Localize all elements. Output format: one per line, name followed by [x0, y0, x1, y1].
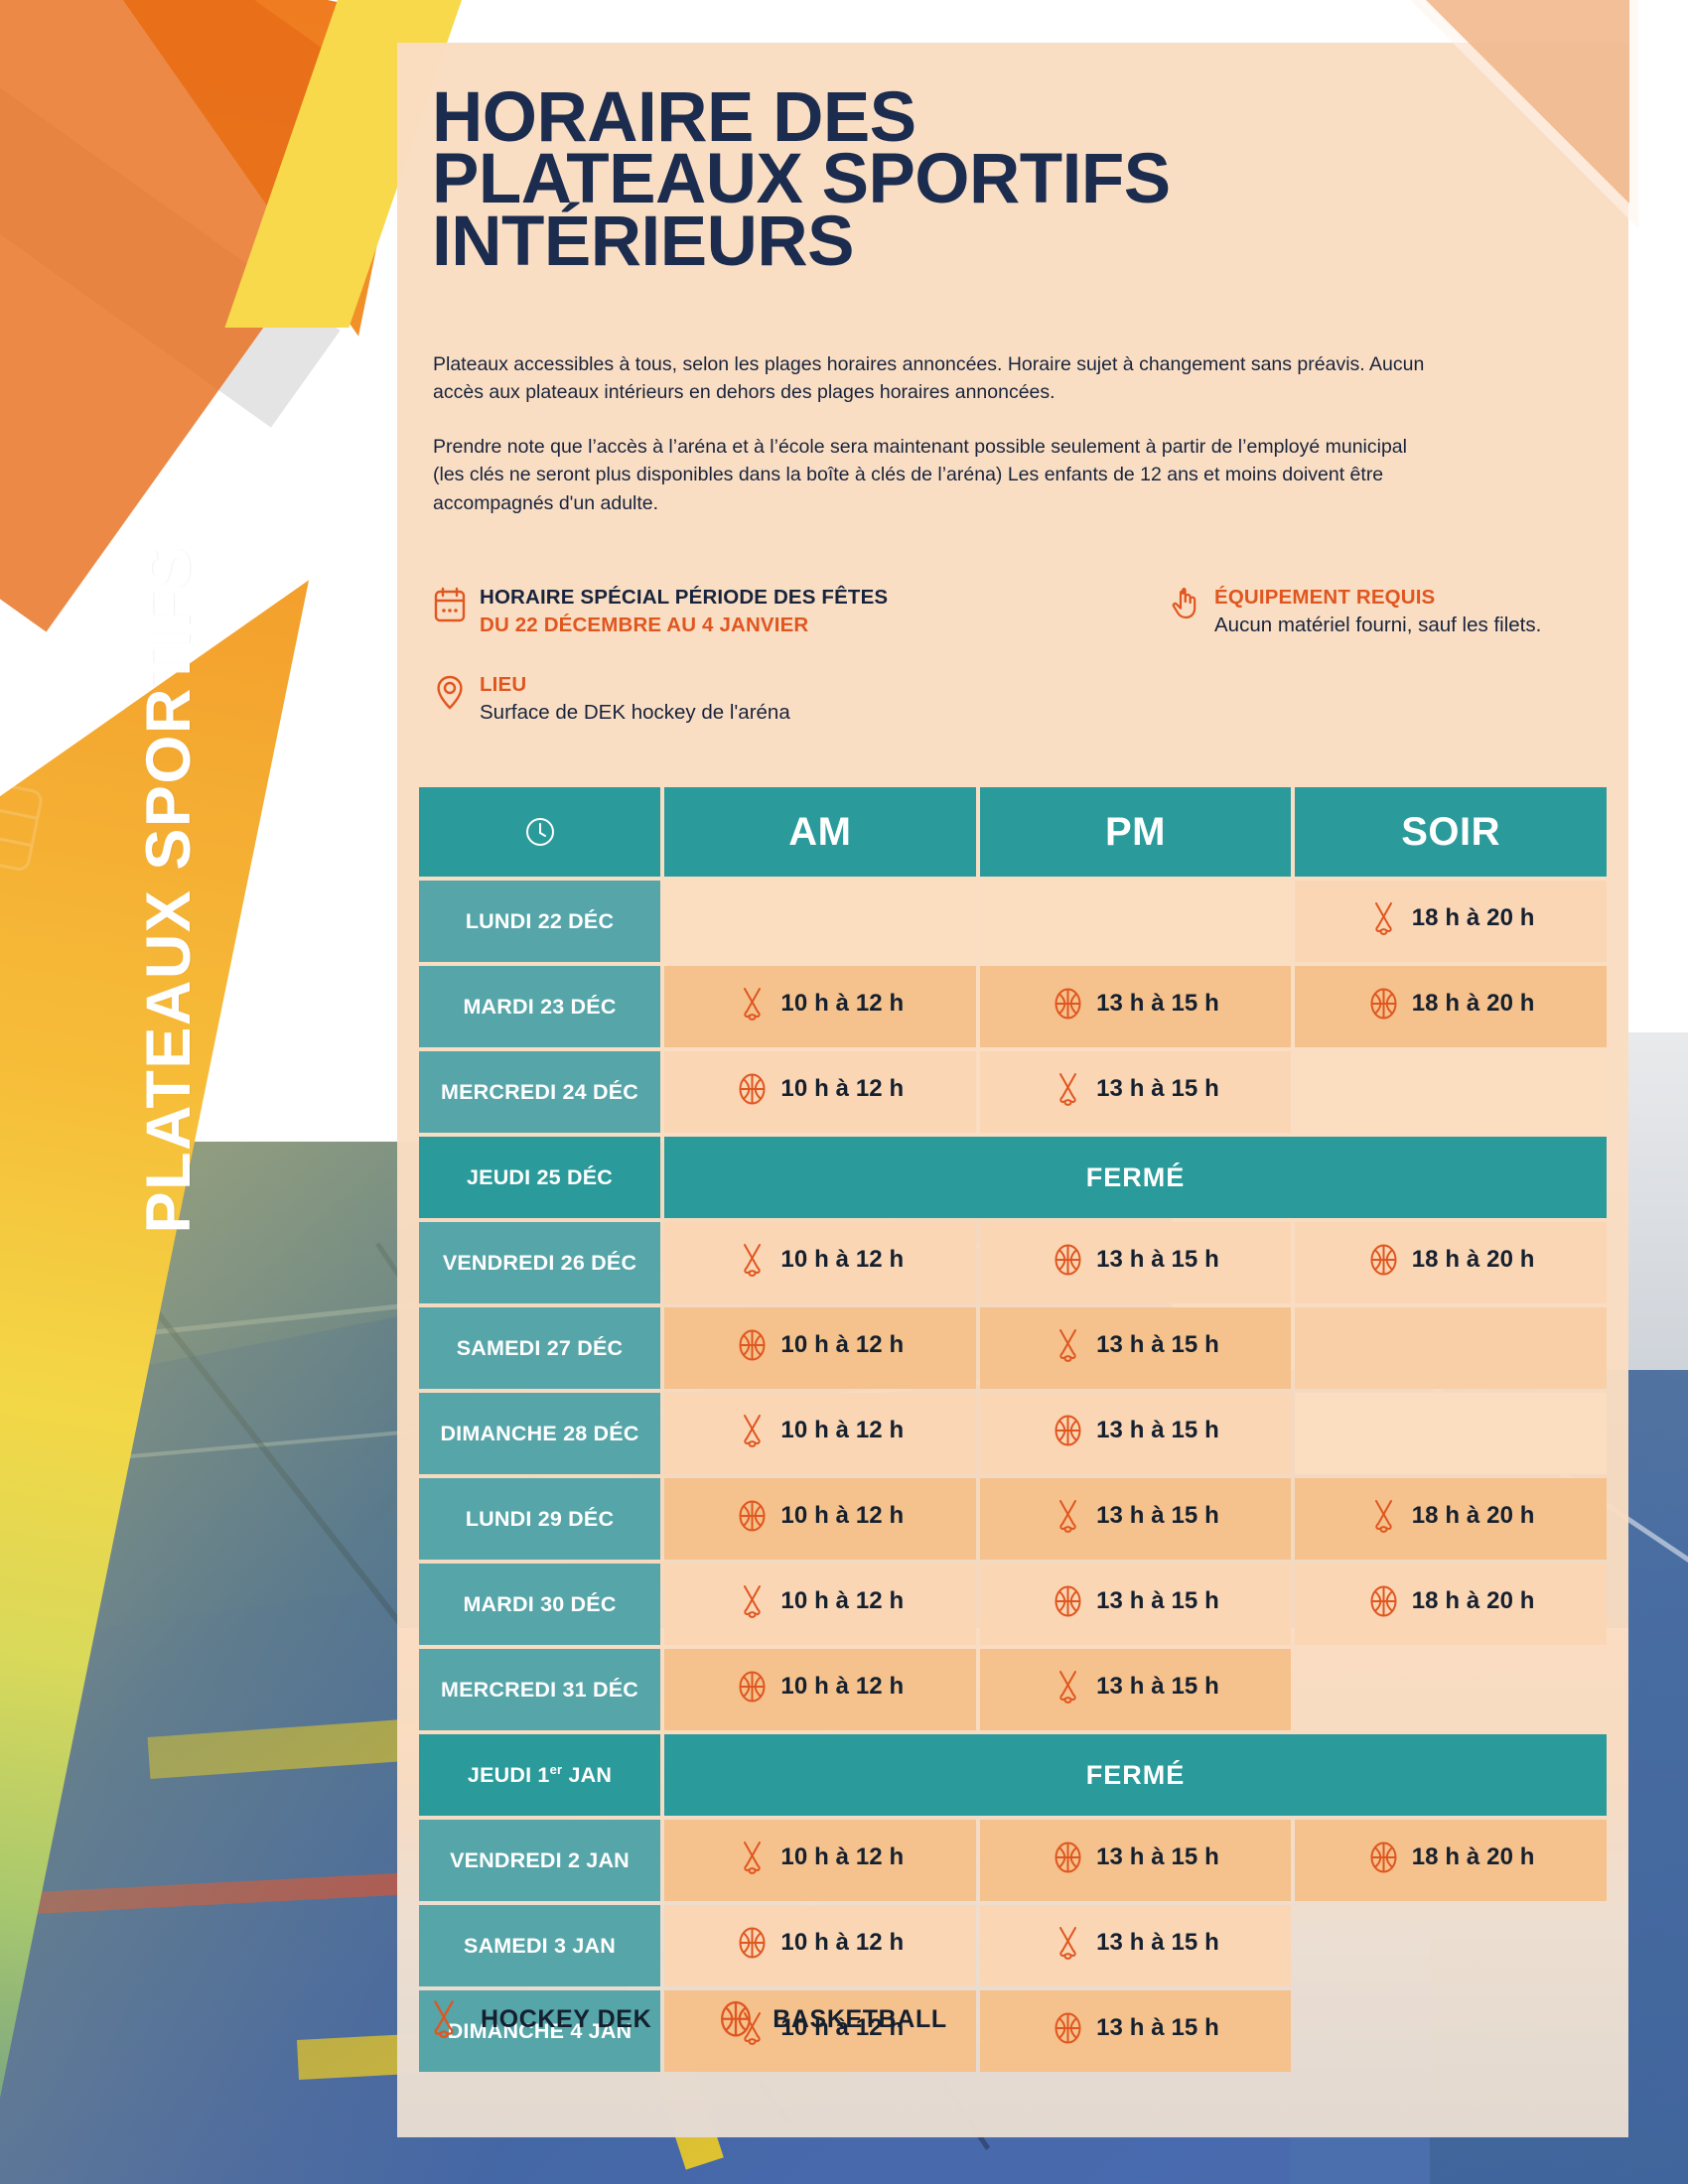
intro-text: Plateaux accessibles à tous, selon les p…: [433, 350, 1436, 517]
column-header-pm: PM: [980, 787, 1292, 877]
hockey-dek-icon: [425, 1998, 463, 2040]
info-block-location: LIEU Surface de DEK hockey de l'aréna: [433, 671, 790, 726]
column-header-am: AM: [664, 787, 976, 877]
table-cell-am: [664, 881, 976, 962]
table-cell-am: 10 h à 12 h: [664, 1307, 976, 1389]
table-row: SAMEDI 3 JAN10 h à 12 h13 h à 15 h: [419, 1905, 1607, 1986]
table-cell-soir: 18 h à 20 h: [1295, 881, 1607, 962]
table-cell-pm: [980, 881, 1292, 962]
table-cell-soir: 18 h à 20 h: [1295, 1820, 1607, 1901]
slot-time: 13 h à 15 h: [1096, 2014, 1219, 2042]
holiday-dates: DU 22 DÉCEMBRE AU 4 JANVIER: [480, 613, 888, 639]
slot-time: 10 h à 12 h: [780, 1587, 904, 1615]
table-cell-soir: 18 h à 20 h: [1295, 966, 1607, 1047]
location-value: Surface de DEK hockey de l'aréna: [480, 700, 790, 727]
slot-time: 18 h à 20 h: [1412, 1587, 1535, 1615]
table-row: VENDREDI 26 DÉC10 h à 12 h13 h à 15 h18 …: [419, 1222, 1607, 1303]
slot-time: 18 h à 20 h: [1412, 1246, 1535, 1274]
calendar-icon: [433, 586, 467, 623]
table-cell-am: 10 h à 12 h: [664, 1478, 976, 1560]
table-row-day: VENDREDI 2 JAN: [419, 1820, 660, 1901]
table-row-day: MERCREDI 31 DÉC: [419, 1649, 660, 1730]
table-row: MERCREDI 24 DÉC10 h à 12 h13 h à 15 h: [419, 1051, 1607, 1133]
table-cell-pm: 13 h à 15 h: [980, 1564, 1292, 1645]
basketball-icon: [736, 1327, 769, 1363]
hockey-dek-icon: [736, 1583, 769, 1619]
sidebar-vertical-title: PLATEAUX SPORTIFS: [133, 393, 205, 1386]
slot-time: 10 h à 12 h: [780, 1929, 904, 1957]
table-row-day: JEUDI 1er JAN: [419, 1734, 660, 1816]
slot-time: 18 h à 20 h: [1412, 990, 1535, 1018]
table-cell-am: 10 h à 12 h: [664, 1222, 976, 1303]
table-cell-am: 10 h à 12 h: [664, 966, 976, 1047]
slot-time: 13 h à 15 h: [1096, 990, 1219, 1018]
table-row-day: SAMEDI 27 DÉC: [419, 1307, 660, 1389]
hockey-dek-icon: [1052, 1498, 1084, 1534]
slot-time: 10 h à 12 h: [780, 1502, 904, 1530]
table-cell-pm: 13 h à 15 h: [980, 1051, 1292, 1133]
basketball-icon: [1052, 1583, 1084, 1619]
location-pin-icon: [433, 673, 467, 711]
table-cell-soir: [1295, 1307, 1607, 1389]
hockey-dek-icon: [1052, 1669, 1084, 1705]
hockey-dek-icon: [1367, 900, 1400, 936]
hockey-dek-icon: [736, 1242, 769, 1278]
table-cell-am: 10 h à 12 h: [664, 1649, 976, 1730]
hockey-dek-icon: [1052, 1925, 1084, 1961]
table-cell-soir: [1295, 1393, 1607, 1474]
basketball-icon: [736, 1071, 769, 1107]
hand-reminder-icon: [1168, 586, 1201, 623]
column-header-clock: [419, 787, 660, 877]
table-row-day: LUNDI 22 DÉC: [419, 881, 660, 962]
slot-time: 13 h à 15 h: [1096, 1417, 1219, 1444]
table-cell-pm: 13 h à 15 h: [980, 1307, 1292, 1389]
legend-item: HOCKEY DEK: [425, 1998, 651, 2040]
table-cell-soir: 18 h à 20 h: [1295, 1222, 1607, 1303]
table-cell-pm: 13 h à 15 h: [980, 966, 1292, 1047]
table-cell-pm: 13 h à 15 h: [980, 1393, 1292, 1474]
table-row-day: MARDI 23 DÉC: [419, 966, 660, 1047]
slot-time: 10 h à 12 h: [780, 990, 904, 1018]
legend-label: BASKETBALL: [773, 2005, 946, 2034]
table-row-day: VENDREDI 26 DÉC: [419, 1222, 660, 1303]
table-cell-am: 10 h à 12 h: [664, 1820, 976, 1901]
info-block-holiday-schedule: HORAIRE SPÉCIAL PÉRIODE DES FÊTES DU 22 …: [433, 584, 888, 638]
slot-time: 18 h à 20 h: [1412, 1502, 1535, 1530]
table-row-day: MARDI 30 DÉC: [419, 1564, 660, 1645]
table-row-day: SAMEDI 3 JAN: [419, 1905, 660, 1986]
hockey-dek-icon: [1052, 1327, 1084, 1363]
info-block-equipment: ÉQUIPEMENT REQUIS Aucun matériel fourni,…: [1168, 584, 1541, 638]
table-cell-pm: 13 h à 15 h: [980, 1222, 1292, 1303]
intro-paragraph-2: Prendre note que l’accès à l’aréna et à …: [433, 433, 1436, 517]
clock-icon: [523, 815, 557, 849]
slot-time: 10 h à 12 h: [780, 1673, 904, 1701]
slot-time: 13 h à 15 h: [1096, 1331, 1219, 1359]
table-row: LUNDI 29 DÉC10 h à 12 h13 h à 15 h18 h à…: [419, 1478, 1607, 1560]
table-row-closed: FERMÉ: [664, 1137, 1607, 1218]
intro-paragraph-1: Plateaux accessibles à tous, selon les p…: [433, 350, 1436, 407]
slot-time: 10 h à 12 h: [780, 1075, 904, 1103]
hockey-dek-icon: [736, 1413, 769, 1448]
basketball-icon: [1367, 1840, 1400, 1875]
equipment-value: Aucun matériel fourni, sauf les filets.: [1214, 613, 1541, 639]
table-row: LUNDI 22 DÉC18 h à 20 h: [419, 881, 1607, 962]
table-cell-am: 10 h à 12 h: [664, 1393, 976, 1474]
slot-time: 18 h à 20 h: [1412, 904, 1535, 932]
basketball-icon: [1367, 1242, 1400, 1278]
basketball-icon: [736, 1669, 769, 1705]
table-row: JEUDI 25 DÉCFERMÉ: [419, 1137, 1607, 1218]
table-row-day: LUNDI 29 DÉC: [419, 1478, 660, 1560]
table-cell-soir: [1295, 1990, 1607, 2072]
basketball-icon: [1052, 986, 1084, 1022]
basketball-icon: [1052, 1840, 1084, 1875]
schedule-table: AM PM SOIR LUNDI 22 DÉC18 h à 20 hMARDI …: [415, 783, 1611, 2076]
slot-time: 13 h à 15 h: [1096, 1075, 1219, 1103]
table-cell-pm: 13 h à 15 h: [980, 1649, 1292, 1730]
basketball-icon: [736, 1498, 769, 1534]
page-title: HORAIRE DES PLATEAUX SPORTIFS INTÉRIEURS: [432, 87, 1171, 273]
slot-time: 10 h à 12 h: [780, 1417, 904, 1444]
slot-time: 10 h à 12 h: [780, 1331, 904, 1359]
table-cell-soir: 18 h à 20 h: [1295, 1564, 1607, 1645]
legend-label: HOCKEY DEK: [481, 2005, 651, 2034]
table-row: MARDI 30 DÉC10 h à 12 h13 h à 15 h18 h à…: [419, 1564, 1607, 1645]
table-cell-soir: 18 h à 20 h: [1295, 1478, 1607, 1560]
table-cell-am: 10 h à 12 h: [664, 1051, 976, 1133]
table-row-day: MERCREDI 24 DÉC: [419, 1051, 660, 1133]
basketball-icon: [1052, 1413, 1084, 1448]
slot-time: 13 h à 15 h: [1096, 1246, 1219, 1274]
slot-time: 13 h à 15 h: [1096, 1673, 1219, 1701]
poster-content: HORAIRE DES PLATEAUX SPORTIFS INTÉRIEURS…: [397, 43, 1628, 2137]
slot-time: 13 h à 15 h: [1096, 1929, 1219, 1957]
table-row: SAMEDI 27 DÉC10 h à 12 h13 h à 15 h: [419, 1307, 1607, 1389]
table-header-row: AM PM SOIR: [419, 787, 1607, 877]
basketball-icon: [717, 1998, 755, 2040]
basketball-icon: [1052, 1242, 1084, 1278]
table-cell-pm: 13 h à 15 h: [980, 1905, 1292, 1986]
table-cell-am: 10 h à 12 h: [664, 1905, 976, 1986]
hockey-dek-icon: [736, 986, 769, 1022]
basketball-icon: [1052, 2010, 1084, 2046]
location-heading: LIEU: [480, 672, 790, 698]
basketball-icon: [1367, 986, 1400, 1022]
slot-time: 13 h à 15 h: [1096, 1502, 1219, 1530]
hockey-dek-icon: [736, 1840, 769, 1875]
basketball-icon: [1367, 1583, 1400, 1619]
hockey-dek-icon: [1367, 1498, 1400, 1534]
equipment-heading: ÉQUIPEMENT REQUIS: [1214, 585, 1541, 611]
slot-time: 18 h à 20 h: [1412, 1843, 1535, 1871]
legend: HOCKEY DEKBASKETBALL: [425, 1998, 947, 2040]
column-header-soir: SOIR: [1295, 787, 1607, 877]
hockey-dek-icon: [1052, 1071, 1084, 1107]
table-row: JEUDI 1er JANFERMÉ: [419, 1734, 1607, 1816]
table-row: MERCREDI 31 DÉC10 h à 12 h13 h à 15 h: [419, 1649, 1607, 1730]
table-cell-pm: 13 h à 15 h: [980, 1820, 1292, 1901]
slot-time: 13 h à 15 h: [1096, 1587, 1219, 1615]
table-row: MARDI 23 DÉC10 h à 12 h13 h à 15 h18 h à…: [419, 966, 1607, 1047]
table-row-closed: FERMÉ: [664, 1734, 1607, 1816]
table-cell-soir: [1295, 1051, 1607, 1133]
legend-item: BASKETBALL: [717, 1998, 946, 2040]
schedule-table-body: LUNDI 22 DÉC18 h à 20 hMARDI 23 DÉC10 h …: [419, 881, 1607, 2072]
table-row: DIMANCHE 28 DÉC10 h à 12 h13 h à 15 h: [419, 1393, 1607, 1474]
basketball-icon: [736, 1925, 769, 1961]
table-row-day: DIMANCHE 28 DÉC: [419, 1393, 660, 1474]
slot-time: 10 h à 12 h: [780, 1246, 904, 1274]
table-cell-soir: [1295, 1905, 1607, 1986]
table-row: VENDREDI 2 JAN10 h à 12 h13 h à 15 h18 h…: [419, 1820, 1607, 1901]
slot-time: 10 h à 12 h: [780, 1843, 904, 1871]
table-cell-am: 10 h à 12 h: [664, 1564, 976, 1645]
title-line-3: INTÉRIEURS: [432, 211, 1171, 273]
table-cell-pm: 13 h à 15 h: [980, 1990, 1292, 2072]
slot-time: 13 h à 15 h: [1096, 1843, 1219, 1871]
table-cell-pm: 13 h à 15 h: [980, 1478, 1292, 1560]
table-row-day: JEUDI 25 DÉC: [419, 1137, 660, 1218]
table-cell-soir: [1295, 1649, 1607, 1730]
holiday-heading: HORAIRE SPÉCIAL PÉRIODE DES FÊTES: [480, 585, 888, 611]
